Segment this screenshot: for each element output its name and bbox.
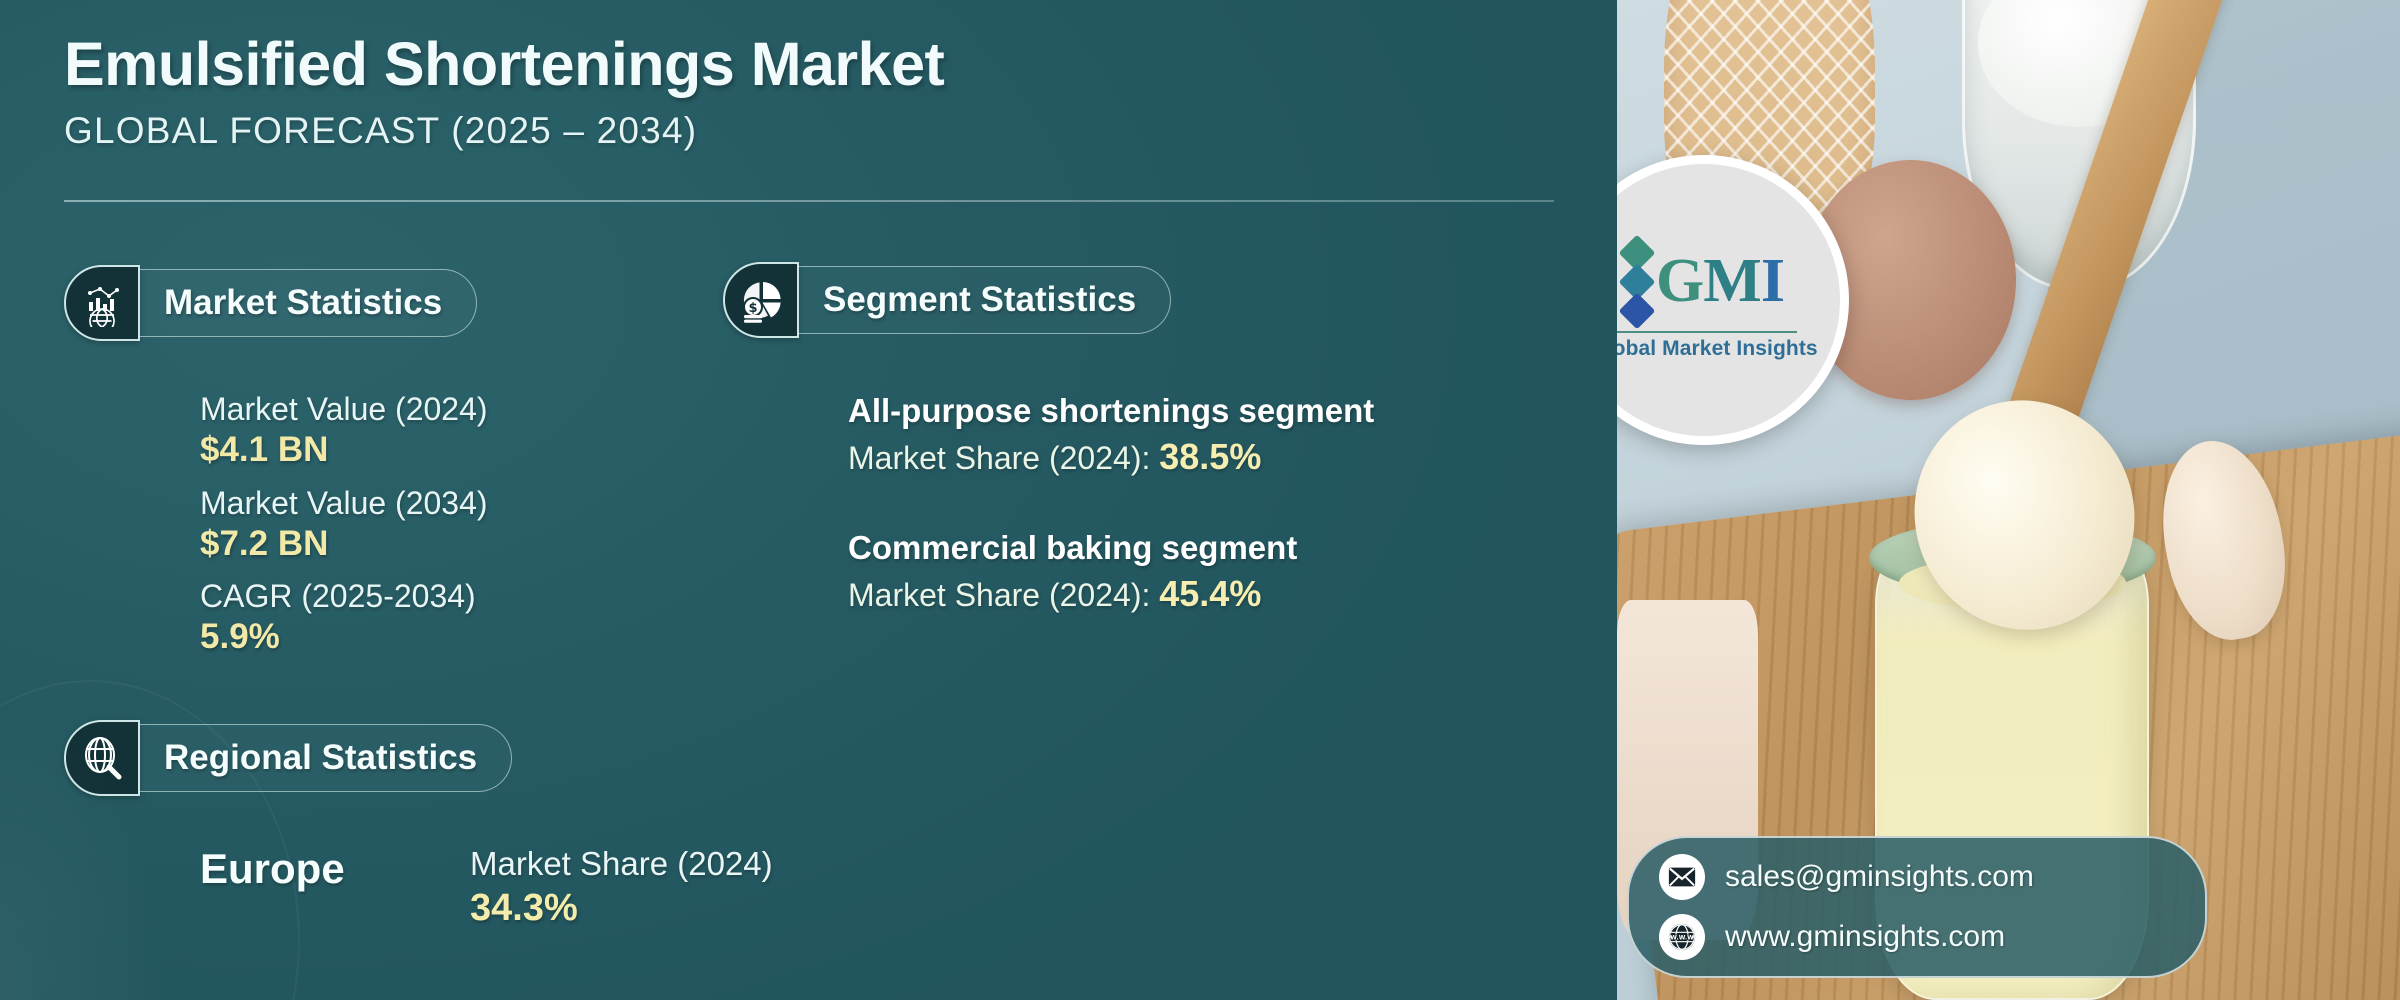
stat-row: Market Value (2024) $4.1 BN [200, 390, 488, 472]
market-statistics-list: Market Value (2024) $4.1 BN Market Value… [200, 390, 488, 671]
segment-share-value: 38.5% [1159, 436, 1261, 477]
svg-text:$: $ [748, 301, 757, 316]
product-photo-panel: GMI Global Market Insights sales@gminsig… [1617, 0, 2400, 1000]
segment-statistics-label: Segment Statistics [823, 280, 1136, 320]
pie-chart-coins-icon: $ [723, 262, 799, 338]
contact-website[interactable]: www.gminsights.com [1725, 920, 2005, 954]
segment-share-label: Market Share (2024): [848, 577, 1159, 613]
segment-share-label: Market Share (2024): [848, 440, 1159, 476]
segment-block: All-purpose shortenings segment Market S… [848, 390, 1374, 481]
logo-letter-g: G [1656, 247, 1703, 315]
segment-block: Commercial baking segment Market Share (… [848, 527, 1374, 618]
globe-bar-chart-icon [64, 265, 140, 341]
globe-www-icon: W.W.W [1659, 914, 1705, 960]
logo-wordmark: GMI [1656, 252, 1784, 311]
logo-mark: GMI [1624, 240, 1784, 324]
regional-statistics-label: Regional Statistics [164, 738, 477, 778]
segment-share-value: 45.4% [1159, 573, 1261, 614]
stat-value: 5.9% [200, 616, 488, 659]
segment-share: Market Share (2024): 45.4% [848, 570, 1374, 619]
market-statistics-label: Market Statistics [164, 283, 442, 323]
logo-divider [1617, 331, 1797, 333]
stat-value: $4.1 BN [200, 429, 488, 472]
infographic-banner: Emulsified Shortenings Market GLOBAL FOR… [0, 0, 2400, 1000]
market-statistics-pill: Market Statistics [138, 269, 477, 337]
contact-email[interactable]: sales@gminsights.com [1725, 860, 2034, 894]
contact-bar: sales@gminsights.com W.W.W ww [1627, 836, 2207, 978]
globe-magnifier-icon [64, 720, 140, 796]
segment-name: Commercial baking segment [848, 527, 1374, 570]
title-divider [64, 200, 1554, 202]
stat-row: Market Value (2034) $7.2 BN [200, 484, 488, 566]
segment-name: All-purpose shortenings segment [848, 390, 1374, 433]
envelope-icon [1659, 854, 1705, 900]
segment-statistics-list: All-purpose shortenings segment Market S… [848, 390, 1374, 619]
region-share-label: Market Share (2024) [470, 845, 773, 883]
diamond-bottom [1619, 292, 1656, 329]
contact-email-row[interactable]: sales@gminsights.com [1659, 854, 2205, 900]
logo-diamonds-icon [1624, 240, 1650, 324]
regional-statistics-pill: Regional Statistics [138, 724, 512, 792]
stat-label: Market Value (2034) [200, 484, 488, 523]
logo-letter-i: I [1761, 247, 1784, 315]
market-statistics-header: Market Statistics [64, 265, 477, 341]
left-content-panel: Emulsified Shortenings Market GLOBAL FOR… [0, 0, 1617, 1000]
stat-value: $7.2 BN [200, 523, 488, 566]
title-block: Emulsified Shortenings Market GLOBAL FOR… [64, 30, 1564, 152]
segment-share: Market Share (2024): 38.5% [848, 433, 1374, 482]
contact-website-row[interactable]: W.W.W www.gminsights.com [1659, 914, 2205, 960]
regional-statistics-list: Europe Market Share (2024) 34.3% [200, 845, 773, 930]
region-name: Europe [200, 845, 470, 893]
regional-statistics-header: Regional Statistics [64, 720, 512, 796]
logo-letter-m: M [1703, 247, 1761, 315]
page-subtitle: GLOBAL FORECAST (2025 – 2034) [64, 110, 1564, 152]
region-share-block: Market Share (2024) 34.3% [470, 845, 773, 930]
region-share-value: 34.3% [470, 887, 773, 930]
stat-label: CAGR (2025-2034) [200, 577, 488, 616]
page-title: Emulsified Shortenings Market [64, 30, 1564, 98]
stat-label: Market Value (2024) [200, 390, 488, 429]
stat-row: CAGR (2025-2034) 5.9% [200, 577, 488, 659]
segment-statistics-header: $ Segment Statistics [723, 262, 1171, 338]
segment-statistics-pill: Segment Statistics [797, 266, 1171, 334]
logo-tagline: Global Market Insights [1617, 337, 1818, 361]
svg-text:W.W.W: W.W.W [1670, 934, 1694, 941]
